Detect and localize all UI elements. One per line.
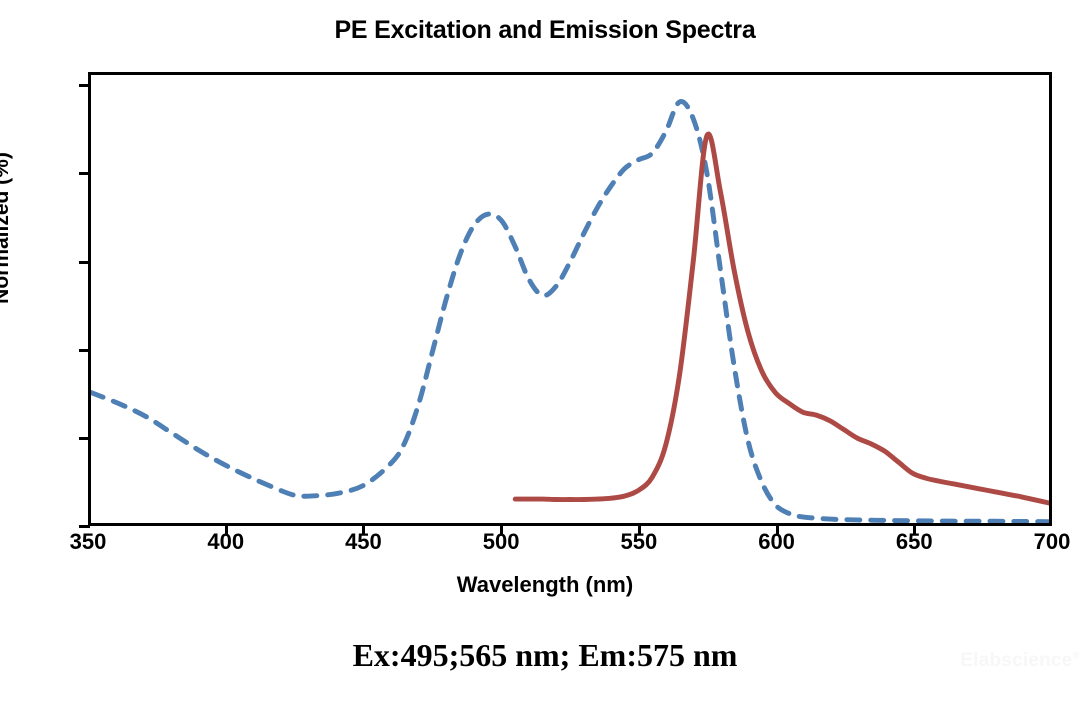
watermark-text: Elabscience	[960, 650, 1072, 671]
y-tick-mark	[79, 261, 90, 264]
x-tick-label: 550	[594, 531, 684, 553]
x-tick-mark	[776, 523, 779, 534]
x-tick-mark	[225, 523, 228, 534]
spectra-figure: PE Excitation and Emission Spectra Norma…	[0, 0, 1090, 704]
plot-area	[88, 72, 1052, 526]
x-tick-label: 400	[181, 531, 271, 553]
x-tick-mark	[638, 523, 641, 534]
watermark: Elabscience®	[960, 650, 1080, 672]
figure-caption: Ex:495;565 nm; Em:575 nm	[0, 637, 1090, 674]
y-tick-mark	[79, 349, 90, 352]
y-tick-mark	[79, 84, 90, 87]
excitation-curve	[91, 102, 1049, 522]
x-tick-label: 500	[456, 531, 546, 553]
x-tick-label: 650	[869, 531, 959, 553]
x-tick-label: 700	[1007, 531, 1090, 553]
x-axis-title: Wavelength (nm)	[0, 572, 1090, 598]
x-tick-label: 600	[732, 531, 822, 553]
y-axis-title: Normalized (%)	[0, 58, 14, 398]
x-tick-label: 450	[318, 531, 408, 553]
y-tick-mark	[79, 437, 90, 440]
x-tick-label: 350	[43, 531, 133, 553]
y-tick-mark	[79, 172, 90, 175]
x-tick-mark	[362, 523, 365, 534]
curves-svg	[91, 75, 1049, 523]
registered-icon: ®	[1072, 651, 1080, 662]
x-tick-mark	[500, 523, 503, 534]
emission-curve	[515, 134, 1049, 503]
page-title: PE Excitation and Emission Spectra	[0, 16, 1090, 45]
y-tick-mark	[79, 525, 90, 528]
x-tick-mark	[913, 523, 916, 534]
